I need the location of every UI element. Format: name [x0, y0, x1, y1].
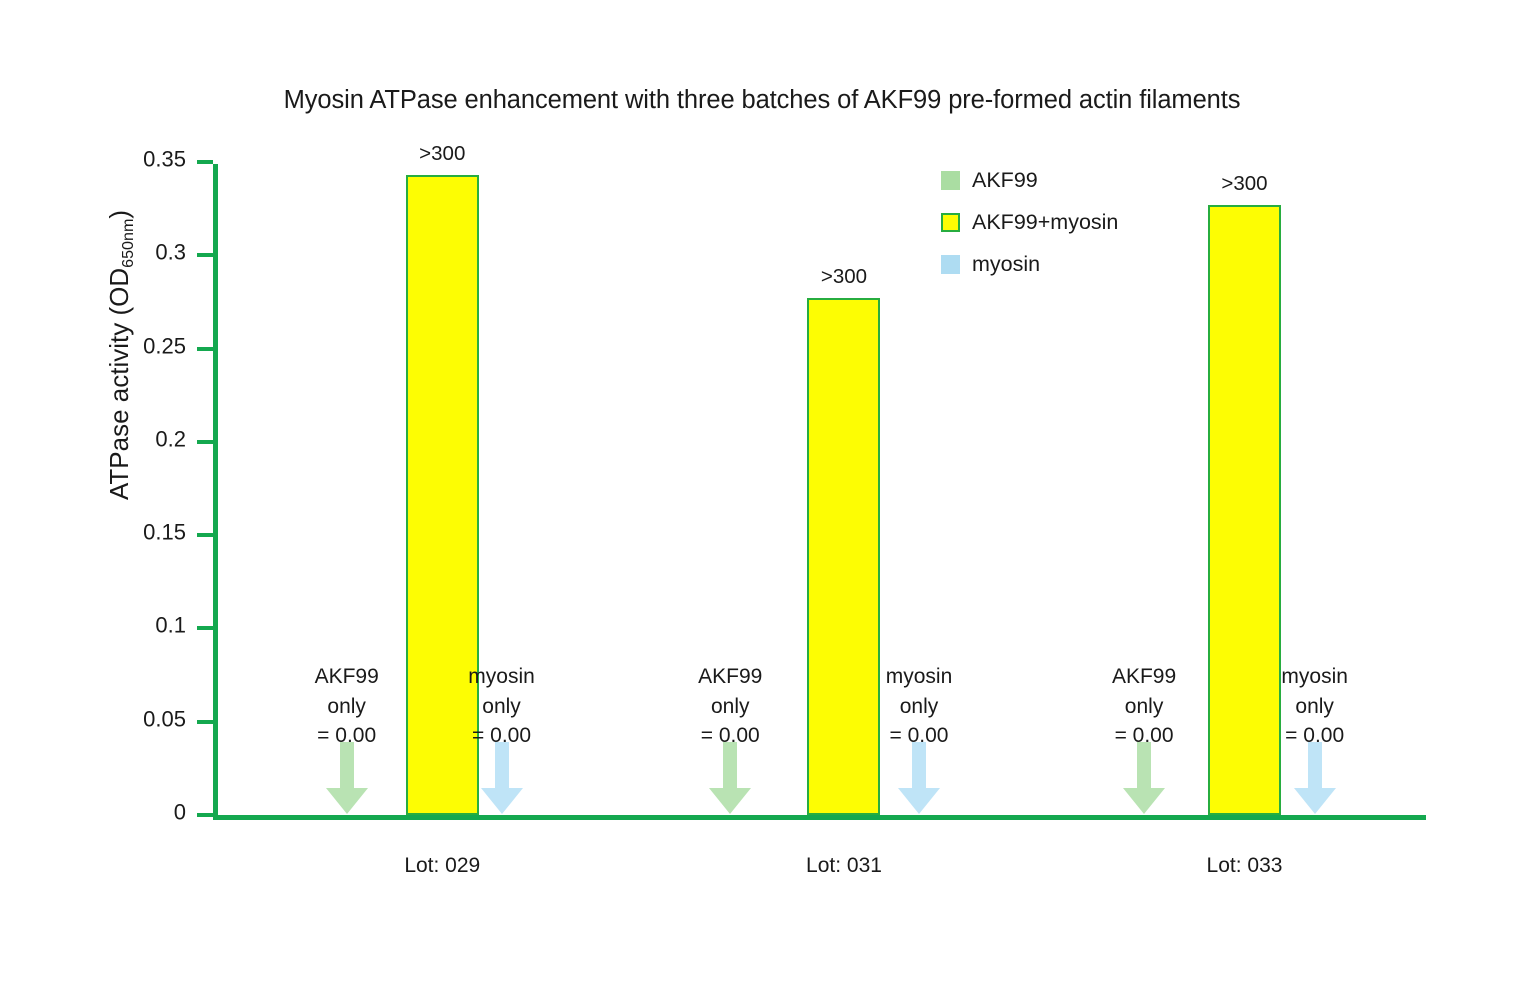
legend-item-akf99-myosin[interactable]: AKF99+myosin — [941, 201, 1181, 243]
bar-akf99-myosin[interactable] — [807, 298, 880, 815]
annotation-line-2: only — [886, 692, 953, 722]
legend-swatch-icon — [941, 171, 960, 190]
y-axis-tick: 0.3 — [197, 253, 213, 257]
legend-item-akf99[interactable]: AKF99 — [941, 159, 1181, 201]
zero-value-annotation: myosinonly= 0.00 — [1281, 662, 1348, 751]
legend-label: myosin — [972, 252, 1040, 277]
y-axis-title: ATPase activity (OD650nm) — [104, 210, 135, 500]
x-axis-group-label: Lot: 029 — [404, 854, 480, 878]
chart-figure: Myosin ATPase enhancement with three bat… — [0, 0, 1524, 1000]
annotation-line-1: myosin — [468, 662, 535, 692]
y-axis-tick-label: 0.1 — [155, 613, 186, 639]
annotation-line-2: only — [698, 692, 762, 722]
x-axis-line — [213, 815, 1426, 820]
y-axis-tick-label: 0.2 — [155, 426, 186, 452]
down-arrow-icon — [1121, 742, 1167, 821]
bar-akf99-myosin[interactable] — [1208, 205, 1281, 815]
y-axis-tick: 0.1 — [197, 626, 213, 630]
y-axis-tick-label: 0.35 — [143, 146, 186, 172]
y-axis-tick: 0.2 — [197, 440, 213, 444]
legend-label: AKF99 — [972, 168, 1038, 193]
y-axis-title-main: ATPase activity (OD — [104, 268, 134, 500]
down-arrow-icon — [479, 742, 525, 821]
zero-value-annotation: myosinonly= 0.00 — [886, 662, 953, 751]
zero-value-annotation: AKF99only= 0.00 — [315, 662, 379, 751]
legend-swatch-icon — [941, 213, 960, 232]
y-axis-tick: 0.05 — [197, 720, 213, 724]
bar-value-label: >300 — [419, 142, 465, 166]
x-axis-group-label: Lot: 031 — [806, 854, 882, 878]
plot-area: 0.350.30.250.20.150.10.050 >300>300>300 … — [216, 164, 1426, 817]
down-arrow-icon — [324, 742, 370, 821]
x-axis-group-label: Lot: 033 — [1207, 854, 1283, 878]
annotation-line-2: only — [315, 692, 379, 722]
annotation-line-1: myosin — [886, 662, 953, 692]
chart-title: Myosin ATPase enhancement with three bat… — [0, 86, 1524, 115]
down-arrow-icon — [1292, 742, 1338, 821]
legend-label: AKF99+myosin — [972, 210, 1118, 235]
annotation-line-2: only — [468, 692, 535, 722]
annotation-line-1: AKF99 — [315, 662, 379, 692]
zero-value-annotation: AKF99only= 0.00 — [1112, 662, 1176, 751]
bar-value-label: >300 — [821, 265, 867, 289]
y-axis-tick-label: 0.3 — [155, 240, 186, 266]
y-axis-tick: 0.35 — [197, 160, 213, 164]
y-axis-tick-label: 0.05 — [143, 706, 186, 732]
y-axis-tick-label: 0.15 — [143, 520, 186, 546]
legend-swatch-icon — [941, 255, 960, 274]
annotation-line-2: only — [1112, 692, 1176, 722]
y-axis-line — [213, 164, 218, 819]
y-axis-tick: 0 — [197, 813, 213, 817]
zero-value-annotation: myosinonly= 0.00 — [468, 662, 535, 751]
chart-legend: AKF99AKF99+myosinmyosin — [941, 159, 1181, 285]
annotation-line-1: AKF99 — [1112, 662, 1176, 692]
down-arrow-icon — [707, 742, 753, 821]
down-arrow-icon — [896, 742, 942, 821]
zero-value-annotation: AKF99only= 0.00 — [698, 662, 762, 751]
legend-item-myosin[interactable]: myosin — [941, 243, 1181, 285]
y-axis-title-tail: ) — [104, 210, 134, 219]
annotation-line-2: only — [1281, 692, 1348, 722]
y-axis-tick-label: 0 — [174, 799, 186, 825]
annotation-line-1: AKF99 — [698, 662, 762, 692]
y-axis-title-subscript: 650nm — [119, 219, 137, 268]
y-axis-tick: 0.25 — [197, 347, 213, 351]
bar-value-label: >300 — [1221, 172, 1267, 196]
y-axis-tick-label: 0.25 — [143, 333, 186, 359]
annotation-line-1: myosin — [1281, 662, 1348, 692]
y-axis-tick: 0.15 — [197, 533, 213, 537]
